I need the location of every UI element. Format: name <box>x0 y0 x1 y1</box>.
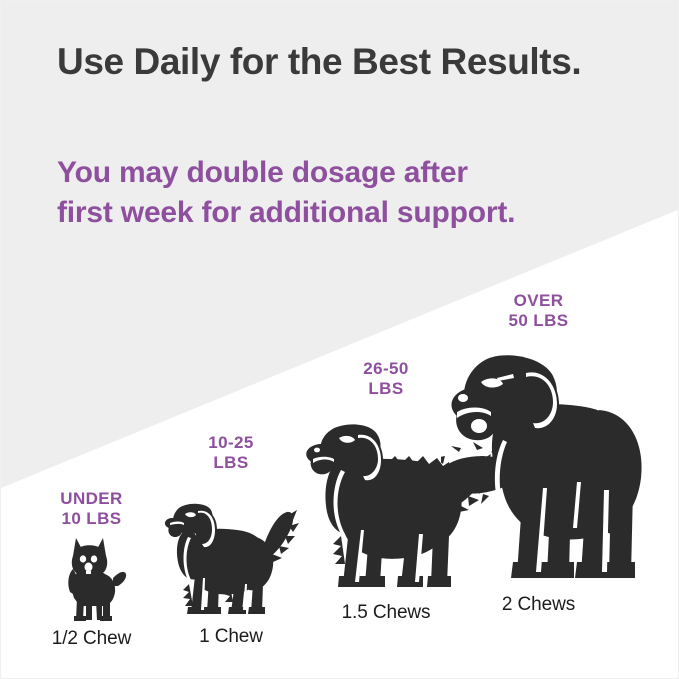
dose-label: 1/2 Chew <box>19 628 164 650</box>
spaniel-silhouette-icon <box>151 480 311 620</box>
mastiff-silhouette-icon <box>441 338 636 588</box>
chihuahua-silhouette-icon <box>19 536 164 622</box>
dose-label: 2 Chews <box>441 594 636 616</box>
page-title: Use Daily for the Best Results. <box>57 39 617 84</box>
dosage-column-under-10-lbs: UNDER 10 LBS <box>19 489 164 650</box>
dose-label: 1 Chew <box>151 626 311 648</box>
dosage-column-over-50-lbs: OVER 50 LBS <box>441 291 636 616</box>
dosage-column-10-25-lbs: 10-25 LBS <box>151 433 311 648</box>
weight-range-label: 10-25 LBS <box>151 433 311 472</box>
subtitle-line-2: first week for additional support. <box>57 193 617 233</box>
weight-range-label: UNDER 10 LBS <box>19 489 164 528</box>
weight-range-label: OVER 50 LBS <box>441 291 636 330</box>
dosage-infographic: Use Daily for the Best Results. You may … <box>0 0 679 679</box>
subtitle-line-1: You may double dosage after <box>57 153 617 193</box>
subtitle: You may double dosage after first week f… <box>57 153 617 233</box>
